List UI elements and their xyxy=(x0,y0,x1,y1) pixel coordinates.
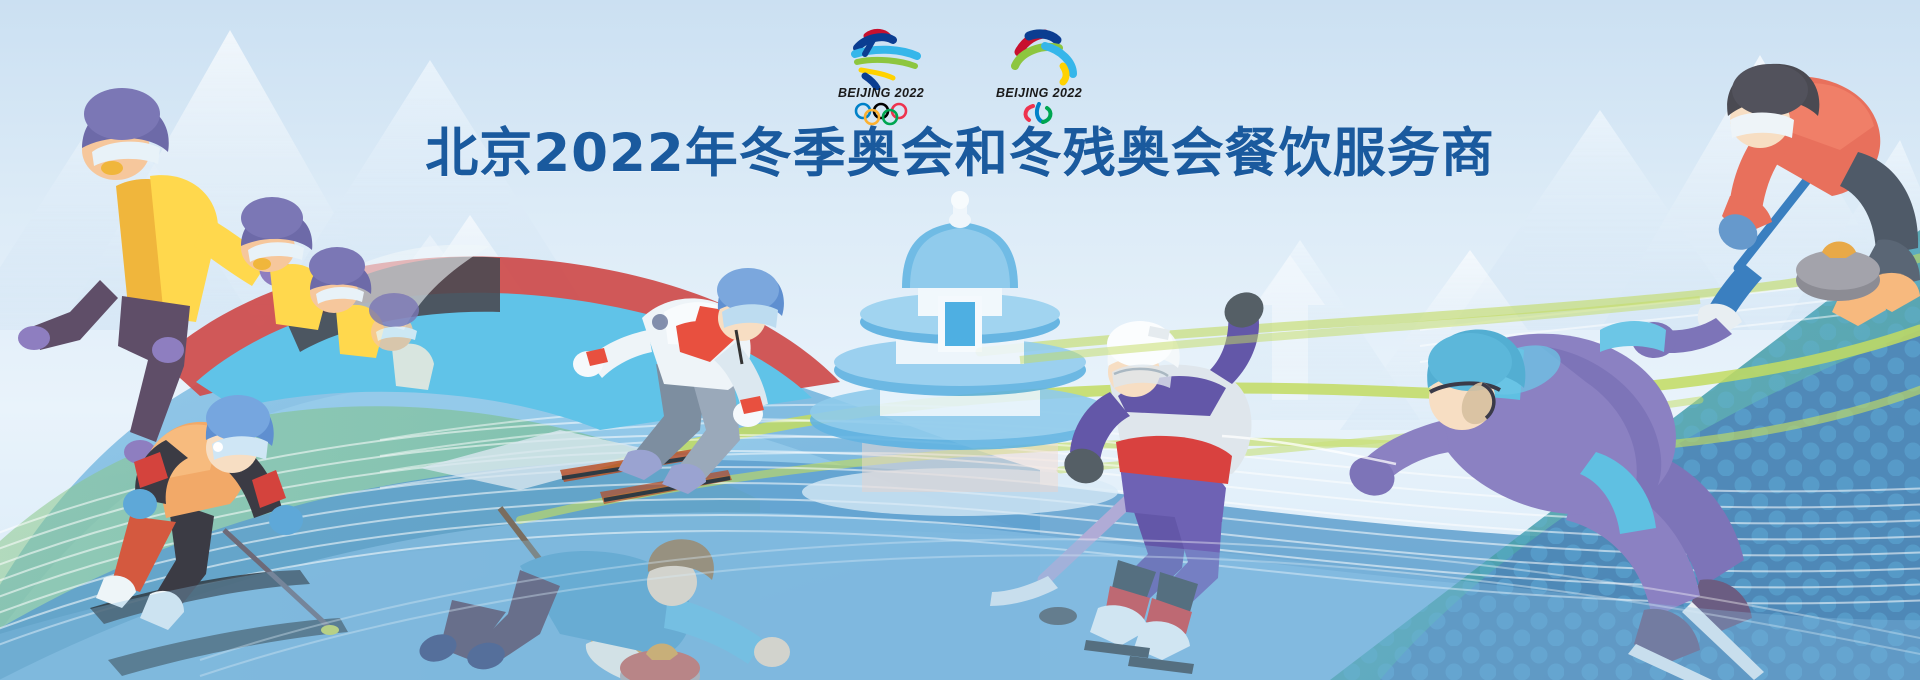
logo-row: BEIJING 2022 xyxy=(0,26,1920,126)
paralympic-wordmark: BEIJING 2022 xyxy=(985,86,1093,100)
olympic-winter-games-logo: BEIJING 2022 xyxy=(827,26,935,124)
page-title: 北京2022年冬季奥会和冬残奥会餐饮服务商 xyxy=(0,124,1920,184)
paralympic-winter-games-logo: BEIJING 2022 xyxy=(985,26,1093,124)
olympic-banner: BEIJING 2022 xyxy=(0,0,1920,680)
flying-emblem-icon xyxy=(985,26,1093,90)
winter-dream-emblem-icon xyxy=(827,26,935,90)
olympic-wordmark: BEIJING 2022 xyxy=(827,86,935,100)
